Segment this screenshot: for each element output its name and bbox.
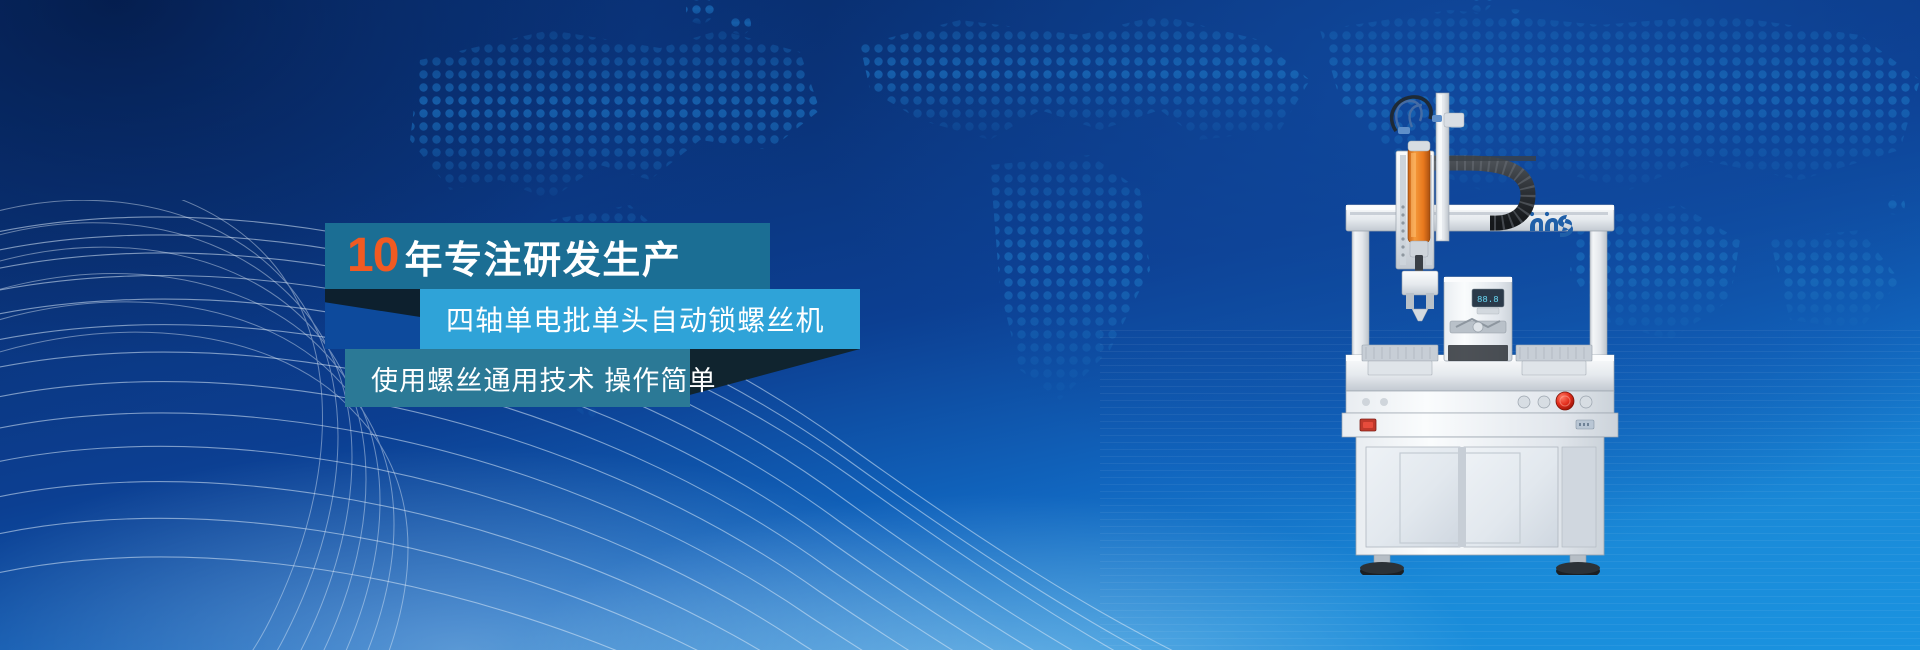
- headline-line-1: 10 年专注研发生产: [325, 223, 770, 289]
- headline-line-3: 使用螺丝通用技术 操作简单: [345, 349, 690, 407]
- headline-group: 10 年专注研发生产 四轴单电批单头自动锁螺丝机 使用螺丝通用技术 操作简单: [325, 223, 1085, 438]
- emergency-stop-button: [1556, 392, 1574, 410]
- panel-button-3: [1580, 396, 1592, 408]
- svg-text:88.8: 88.8: [1477, 295, 1499, 305]
- promotional-banner: 10 年专注研发生产 四轴单电批单头自动锁螺丝机 使用螺丝通用技术 操作简单: [0, 0, 1920, 650]
- headline-line-1-text: 年专注研发生产: [404, 229, 681, 284]
- panel-button-2: [1538, 396, 1550, 408]
- years-number: 10: [347, 232, 398, 280]
- headline-line-2: 四轴单电批单头自动锁螺丝机: [420, 289, 860, 349]
- headline-line-2-text: 四轴单电批单头自动锁螺丝机: [446, 299, 825, 339]
- screw-locking-machine-photo: 88.8: [1340, 55, 1720, 575]
- panel-button-1: [1518, 396, 1530, 408]
- headline-line-3-text: 使用螺丝通用技术 操作简单: [371, 359, 717, 398]
